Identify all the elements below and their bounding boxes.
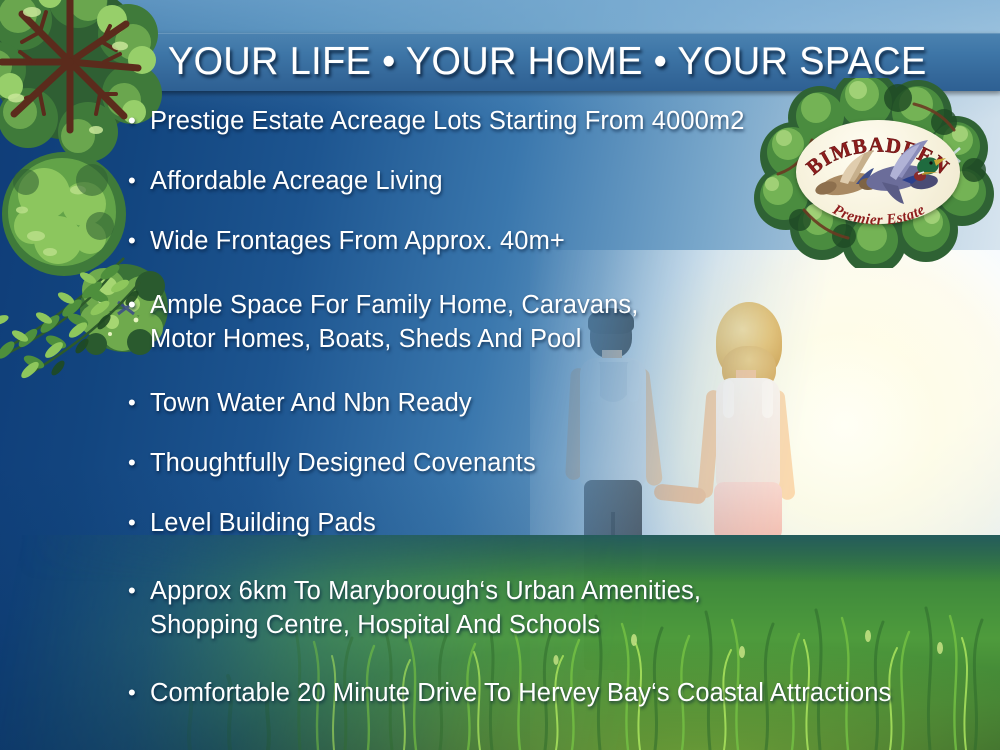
bullet-icon: • xyxy=(128,506,150,540)
list-item-text: Affordable Acreage Living xyxy=(150,167,443,195)
promotional-poster: YOUR LIFE • YOUR HOME • YOUR SPACE xyxy=(0,0,1000,750)
list-item-text: Approx 6km To Maryborough‘s Urban Amenit… xyxy=(150,577,701,605)
bullet-icon: • xyxy=(128,164,150,198)
list-item: • Prestige Estate Acreage Lots Starting … xyxy=(128,104,948,138)
list-item-text: Level Building Pads xyxy=(150,509,376,537)
list-item: • Town Water And Nbn Ready xyxy=(128,386,948,420)
list-item-text: Wide Frontages From Approx. 40m+ xyxy=(150,227,565,255)
list-item: • Comfortable 20 Minute Drive To Hervey … xyxy=(128,676,948,710)
list-item: • Approx 6km To Maryborough‘s Urban Amen… xyxy=(128,574,948,642)
list-item: • Ample Space For Family Home, Caravans,… xyxy=(128,288,948,356)
list-item-text: Prestige Estate Acreage Lots Starting Fr… xyxy=(150,107,745,135)
list-item-text-line2: Motor Homes, Boats, Sheds And Pool xyxy=(150,322,948,356)
bullet-icon: • xyxy=(128,676,150,710)
aerial-tree-medium xyxy=(2,152,126,276)
list-item: • Affordable Acreage Living xyxy=(128,164,948,198)
list-item: • Level Building Pads xyxy=(128,506,948,540)
bullet-icon: • xyxy=(128,386,150,420)
list-item-text: Comfortable 20 Minute Drive To Hervey Ba… xyxy=(150,679,891,707)
list-item-text: Thoughtfully Designed Covenants xyxy=(150,449,536,477)
list-item-text-line2: Shopping Centre, Hospital And Schools xyxy=(150,608,948,642)
bullet-icon: • xyxy=(128,104,150,138)
feature-list: • Prestige Estate Acreage Lots Starting … xyxy=(128,104,948,736)
bullet-icon: • xyxy=(128,288,150,322)
list-item: • Thoughtfully Designed Covenants xyxy=(128,446,948,480)
list-item-text: Ample Space For Family Home, Caravans, xyxy=(150,291,638,319)
bullet-icon: • xyxy=(128,224,150,258)
list-item: • Wide Frontages From Approx. 40m+ xyxy=(128,224,948,258)
bullet-icon: • xyxy=(128,446,150,480)
list-item-text: Town Water And Nbn Ready xyxy=(150,389,472,417)
bullet-icon: • xyxy=(128,574,150,608)
